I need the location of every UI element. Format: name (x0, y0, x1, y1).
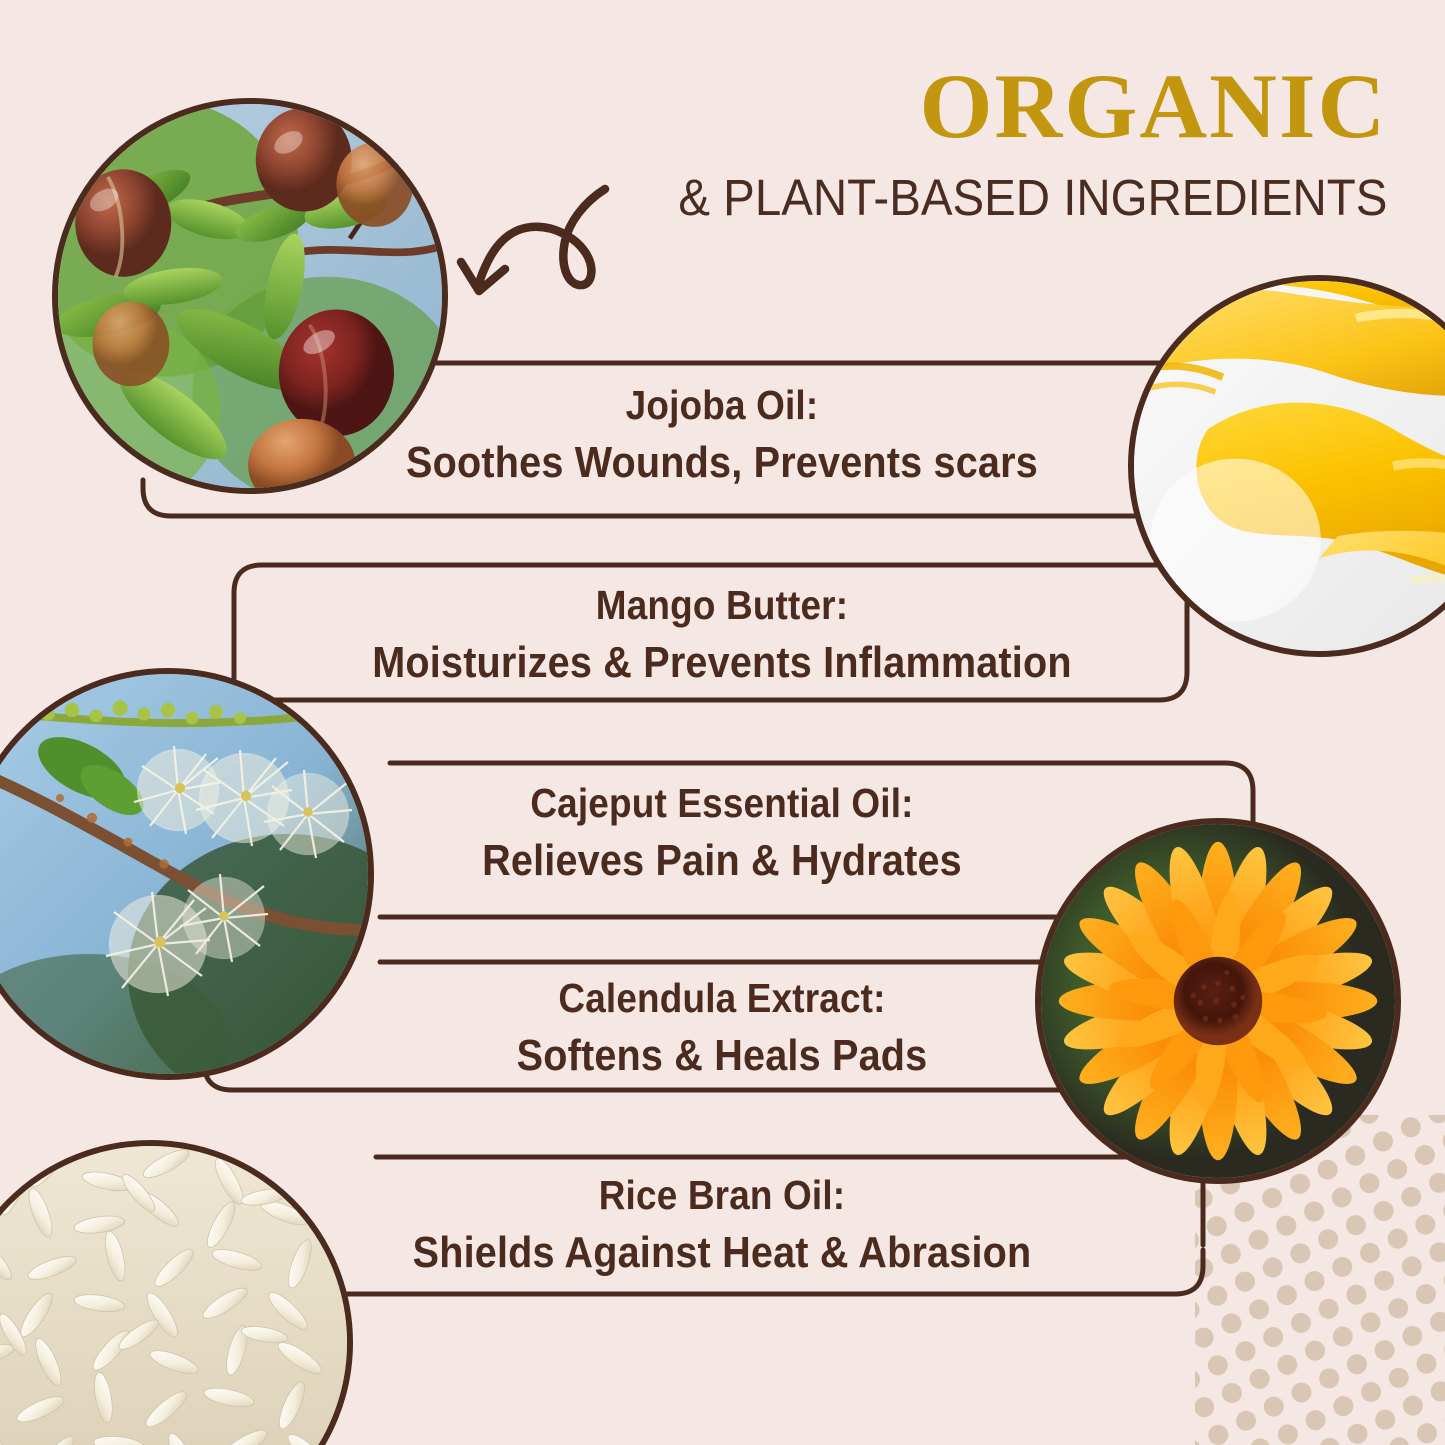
ingredient-name: Mango Butter: (281, 582, 1163, 629)
infographic-canvas: ORGANIC & PLANT-BASED INGREDIENTS Jojoba… (0, 0, 1445, 1445)
ingredient-row-cajeput: Cajeput Essential Oil: Relieves Pain & H… (232, 780, 1212, 886)
page-header: ORGANIC & PLANT-BASED INGREDIENTS (625, 60, 1387, 227)
ingredient-name: Cajeput Essential Oil: (281, 780, 1163, 827)
ingredient-row-mango-butter: Mango Butter: Moisturizes & Prevents Inf… (232, 582, 1212, 688)
ingredient-row-jojoba: Jojoba Oil: Soothes Wounds, Prevents sca… (232, 382, 1212, 488)
ingredient-description: Relieves Pain & Hydrates (281, 836, 1163, 886)
curly-arrow-icon (455, 175, 645, 305)
ingredient-row-rice-bran: Rice Bran Oil: Shields Against Heat & Ab… (232, 1172, 1212, 1278)
ingredient-name: Calendula Extract: (281, 975, 1163, 1022)
ingredient-description: Shields Against Heat & Abrasion (281, 1228, 1163, 1278)
page-title: ORGANIC (609, 60, 1387, 152)
ingredient-description: Softens & Heals Pads (281, 1031, 1163, 1081)
ingredient-description: Soothes Wounds, Prevents scars (281, 438, 1163, 488)
ingredient-row-calendula: Calendula Extract: Softens & Heals Pads (232, 975, 1212, 1081)
ingredient-name: Jojoba Oil: (281, 382, 1163, 429)
ingredient-description: Moisturizes & Prevents Inflammation (281, 638, 1163, 688)
ingredient-name: Rice Bran Oil: (281, 1172, 1163, 1219)
page-subtitle: & PLANT-BASED INGREDIENTS (678, 168, 1387, 227)
